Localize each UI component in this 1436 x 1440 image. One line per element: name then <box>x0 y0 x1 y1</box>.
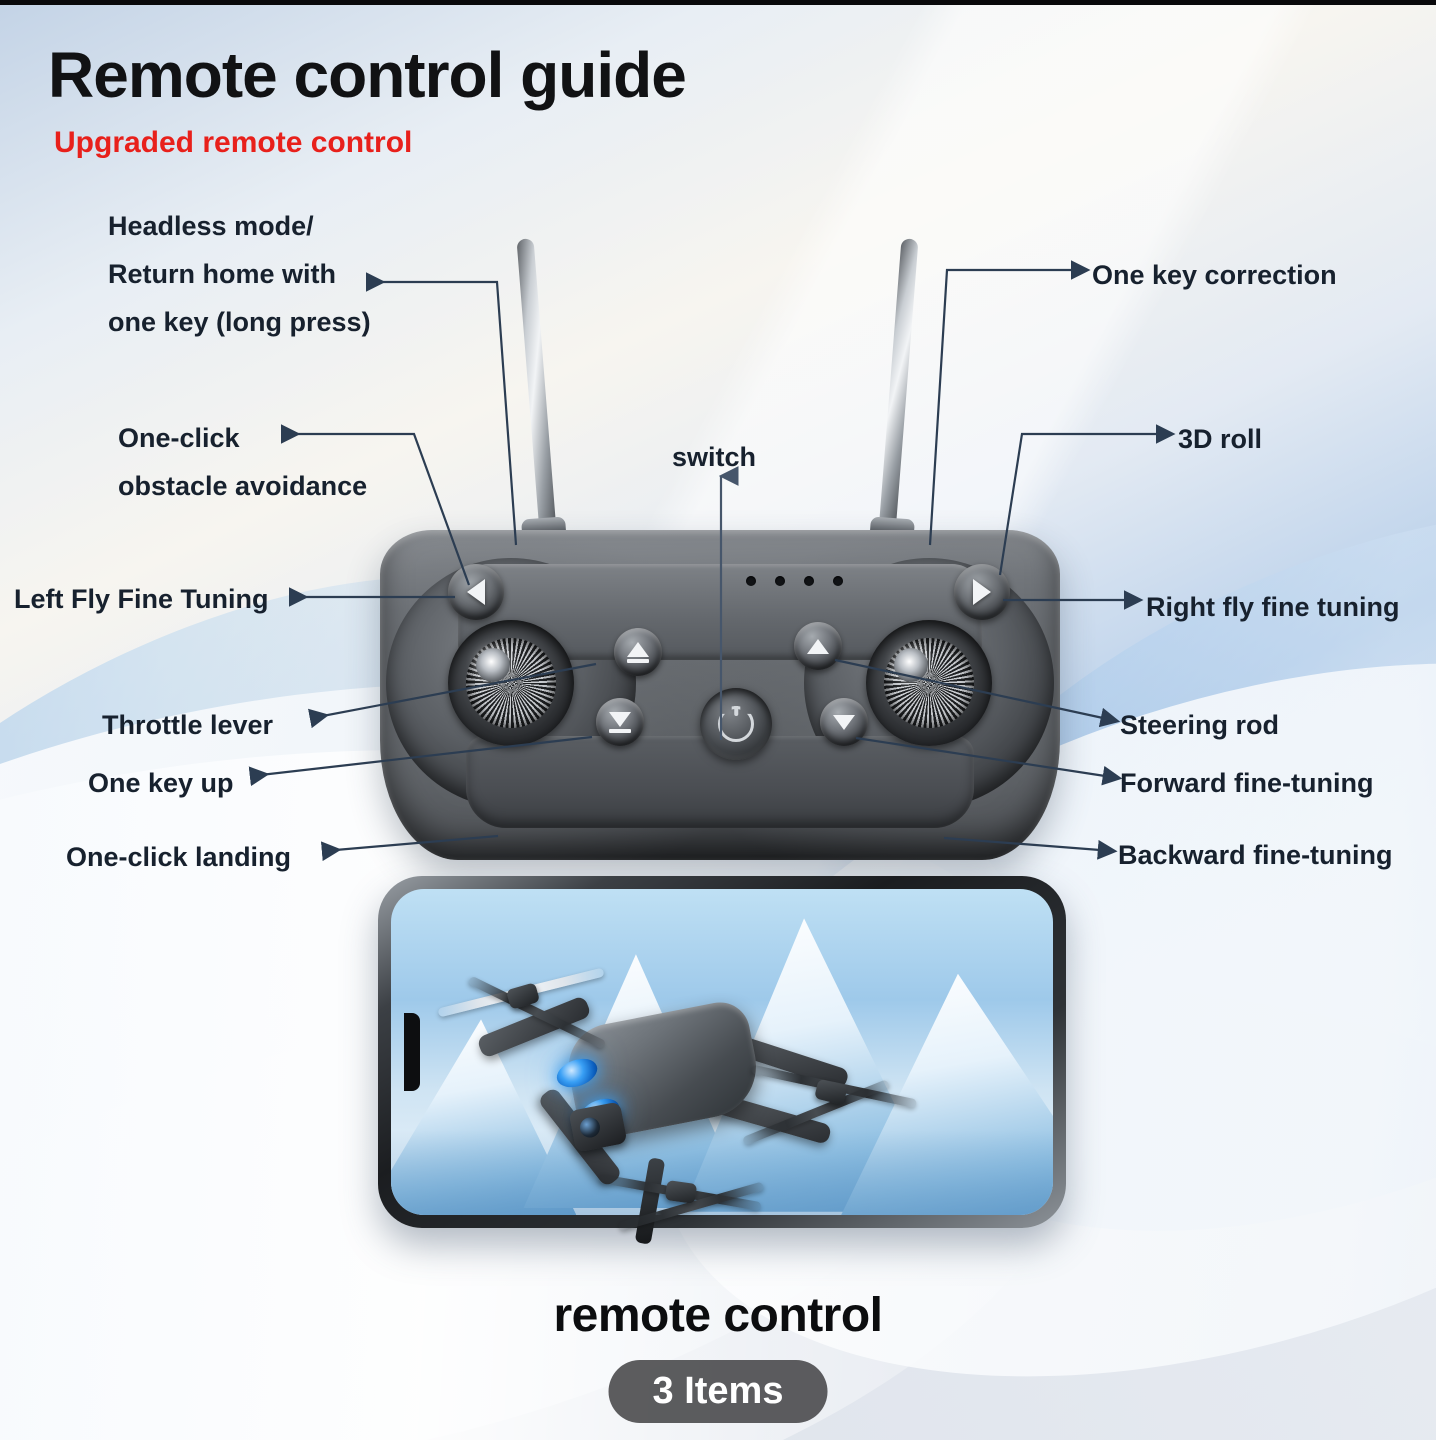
power-icon <box>718 706 754 742</box>
forward-fine-tuning-button[interactable] <box>794 622 842 670</box>
drone-motor-hub <box>665 1180 697 1204</box>
item-count-badge: 3 Items <box>609 1360 828 1423</box>
controller-body <box>380 530 1060 860</box>
phone-notch <box>404 1013 420 1091</box>
joystick-texture <box>884 638 974 728</box>
drone-camera <box>568 1101 627 1152</box>
callout-one-click-landing: One-click landing <box>66 834 291 880</box>
arrow-down-icon <box>833 715 855 730</box>
top-black-bar <box>0 0 1436 5</box>
landing-icon <box>609 712 631 733</box>
callout-backward-fine-tuning: Backward fine-tuning <box>1118 832 1393 878</box>
led-dot <box>833 576 843 586</box>
product-caption: remote control <box>0 1288 1436 1343</box>
callout-switch: switch <box>672 434 756 480</box>
antenna-left <box>516 238 556 538</box>
callout-3d-roll: 3D roll <box>1178 416 1262 462</box>
callout-left-fly-fine-tuning: Left Fly Fine Tuning <box>14 576 268 622</box>
joystick-texture <box>466 638 556 728</box>
page-title: Remote control guide <box>48 38 686 112</box>
callout-one-key-correction: One key correction <box>1092 252 1337 298</box>
joystick-cap <box>476 648 510 682</box>
callout-forward-fine-tuning: Forward fine-tuning <box>1120 760 1373 806</box>
callout-headless-return-home: Headless mode/Return home withone key (l… <box>108 202 408 346</box>
drone-landing-leg <box>635 1157 666 1244</box>
steering-rod-joystick[interactable] <box>866 620 992 746</box>
led-dot <box>804 576 814 586</box>
led-dot <box>775 576 785 586</box>
infographic-canvas: Remote control guide Upgraded remote con… <box>0 0 1436 1440</box>
led-dot <box>746 576 756 586</box>
arrow-right-icon <box>973 579 991 605</box>
callout-steering-rod: Steering rod <box>1120 702 1279 748</box>
page-subtitle: Upgraded remote control <box>54 126 412 160</box>
drone-illustration <box>420 930 900 1260</box>
callout-right-fly-fine-tuning: Right fly fine tuning <box>1146 584 1399 630</box>
arrow-left-icon <box>467 579 485 605</box>
power-switch-button[interactable] <box>700 688 772 760</box>
led-indicator-group <box>746 576 843 586</box>
camera-lens-icon <box>578 1116 601 1139</box>
callout-throttle-lever: Throttle lever <box>102 702 273 748</box>
one-click-landing-button[interactable] <box>596 698 644 746</box>
callout-obstacle-avoidance: One-clickobstacle avoidance <box>118 414 408 510</box>
left-fly-fine-tuning-button[interactable] <box>448 564 504 620</box>
arrow-up-icon <box>807 639 829 654</box>
throttle-lever-joystick[interactable] <box>448 620 574 746</box>
right-fly-fine-tuning-button[interactable] <box>954 564 1010 620</box>
takeoff-icon <box>627 642 649 663</box>
joystick-cap <box>894 648 928 682</box>
antenna-right <box>878 238 918 538</box>
one-key-up-button[interactable] <box>614 628 662 676</box>
backward-fine-tuning-button[interactable] <box>820 698 868 746</box>
callout-one-key-up: One key up <box>88 760 234 806</box>
remote-controller-illustration <box>370 230 1070 880</box>
